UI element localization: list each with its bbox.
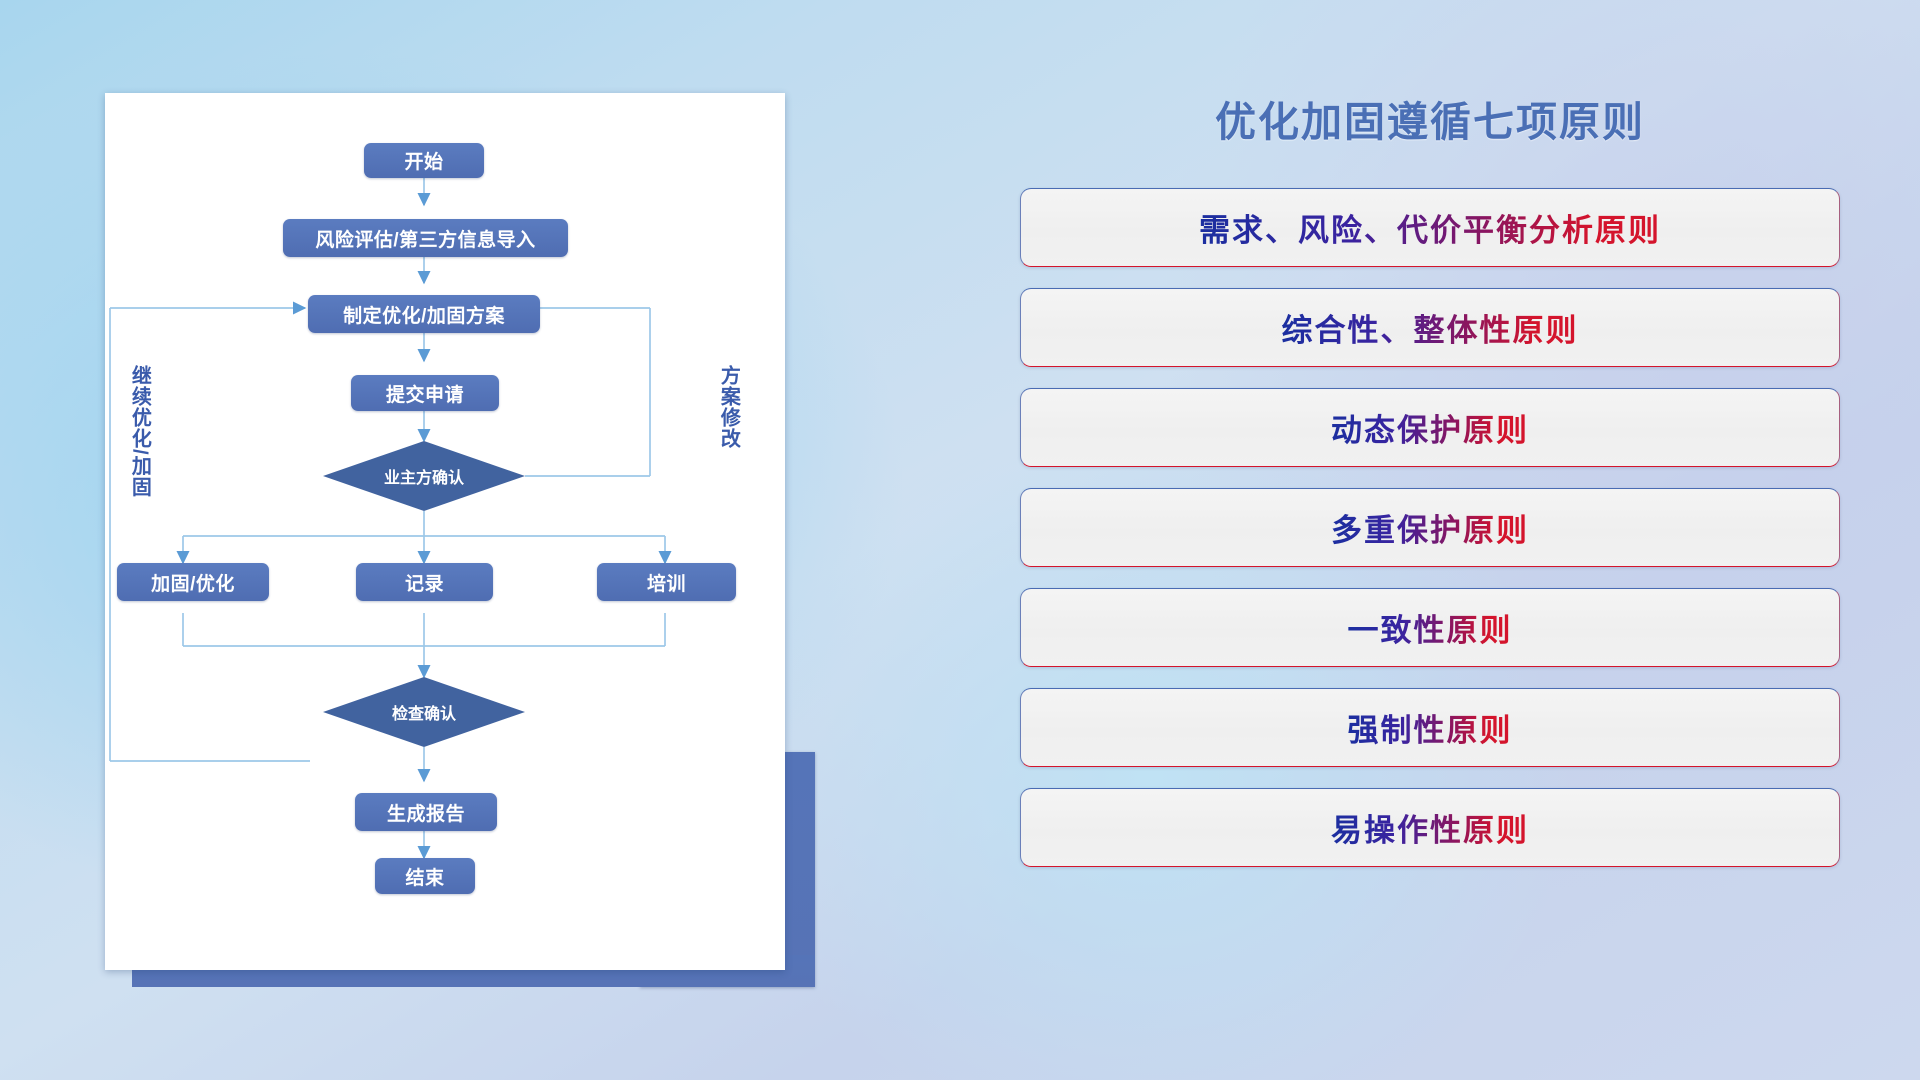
principles-panel: 优化加固遵循七项原则 需求、风险、代价平衡分析原则 综合性、整体性原则 动态保护… <box>1020 88 1840 1018</box>
principle-label: 一致性原则 <box>1348 605 1513 650</box>
flow-node-submit-application[interactable]: 提交申请 <box>351 375 499 411</box>
flow-node-label: 开始 <box>404 147 443 174</box>
flowchart-card: 开始 风险评估/第三方信息导入 制定优化/加固方案 提交申请 业主方确认 <box>105 93 785 970</box>
flow-node-label: 记录 <box>405 569 444 596</box>
flow-node-label: 制定优化/加固方案 <box>343 301 505 328</box>
principle-label: 动态保护原则 <box>1331 405 1529 450</box>
principle-item[interactable]: 需求、风险、代价平衡分析原则 <box>1020 188 1840 267</box>
flow-node-label: 生成报告 <box>387 799 465 826</box>
flow-node-label: 培训 <box>647 569 686 596</box>
flow-node-label: 检查确认 <box>392 700 456 724</box>
principle-label: 需求、风险、代价平衡分析原则 <box>1199 205 1661 250</box>
principles-list: 需求、风险、代价平衡分析原则 综合性、整体性原则 动态保护原则 多重保护原则 一… <box>1020 188 1840 867</box>
edge-label-continue-optimize: 继续优化/加固 <box>129 365 149 545</box>
flow-node-owner-confirm[interactable]: 业主方确认 <box>323 441 525 511</box>
principle-label: 易操作性原则 <box>1331 805 1529 850</box>
principle-label: 强制性原则 <box>1348 705 1513 750</box>
edge-label-plan-revision: 方案修改 <box>718 365 738 500</box>
principle-label: 综合性、整体性原则 <box>1282 305 1579 350</box>
flow-node-start[interactable]: 开始 <box>364 143 484 178</box>
flow-node-label: 提交申请 <box>386 380 464 407</box>
flow-node-generate-report[interactable]: 生成报告 <box>355 793 497 831</box>
flow-node-label: 加固/优化 <box>151 569 235 596</box>
flow-node-reinforce-optimize[interactable]: 加固/优化 <box>117 563 269 601</box>
flow-node-end[interactable]: 结束 <box>375 858 475 894</box>
slide-canvas: 开始 风险评估/第三方信息导入 制定优化/加固方案 提交申请 业主方确认 <box>0 0 1920 1080</box>
principle-item[interactable]: 综合性、整体性原则 <box>1020 288 1840 367</box>
principle-item[interactable]: 易操作性原则 <box>1020 788 1840 867</box>
panel-title: 优化加固遵循七项原则 <box>1020 88 1840 148</box>
flow-node-plan[interactable]: 制定优化/加固方案 <box>308 295 540 333</box>
principle-item[interactable]: 强制性原则 <box>1020 688 1840 767</box>
flow-node-training[interactable]: 培训 <box>597 563 736 601</box>
principle-item[interactable]: 多重保护原则 <box>1020 488 1840 567</box>
flow-node-risk-assessment[interactable]: 风险评估/第三方信息导入 <box>283 219 568 257</box>
principle-item[interactable]: 动态保护原则 <box>1020 388 1840 467</box>
flowchart: 开始 风险评估/第三方信息导入 制定优化/加固方案 提交申请 业主方确认 <box>105 93 785 970</box>
principle-label: 多重保护原则 <box>1331 505 1529 550</box>
flow-node-inspection-confirm[interactable]: 检查确认 <box>323 677 525 747</box>
flow-node-label: 业主方确认 <box>384 464 464 488</box>
principle-item[interactable]: 一致性原则 <box>1020 588 1840 667</box>
flow-node-record[interactable]: 记录 <box>356 563 493 601</box>
flow-node-label: 结束 <box>405 863 444 890</box>
flow-node-label: 风险评估/第三方信息导入 <box>315 225 535 252</box>
